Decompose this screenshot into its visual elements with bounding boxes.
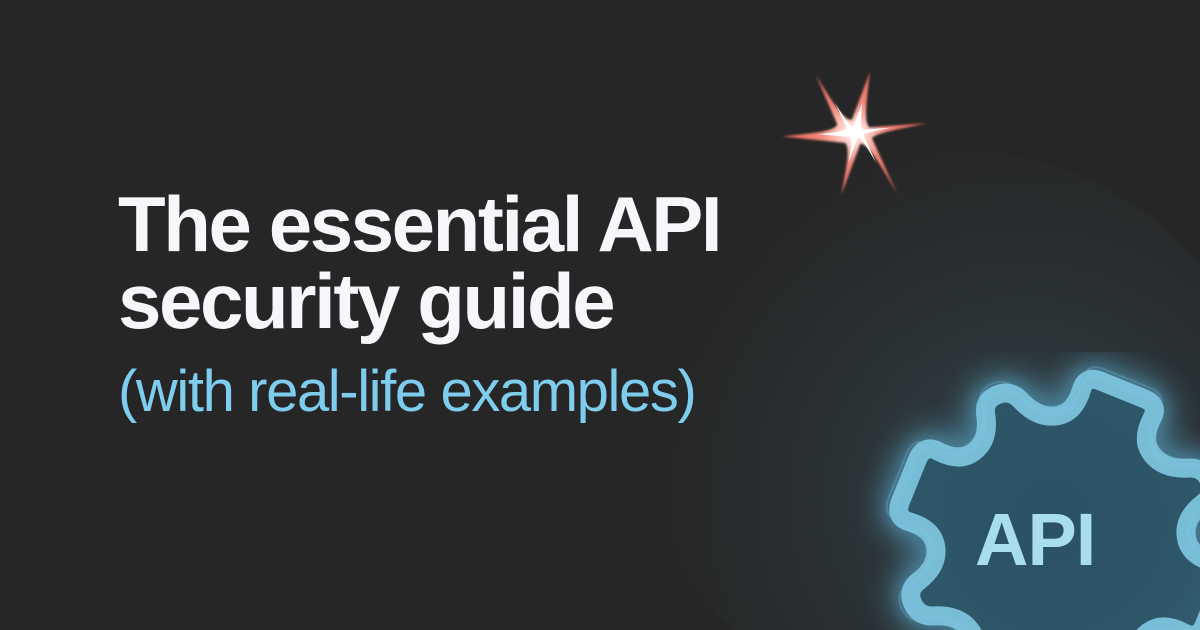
page-title: The essential API security guide [118, 186, 878, 340]
text-block: The essential API security guide (with r… [118, 186, 878, 422]
gear-api-label: API [975, 503, 1095, 577]
page-subtitle: (with real-life examples) [118, 362, 878, 421]
sparkle-star-icon [779, 66, 935, 196]
gear-cog-icon [846, 352, 1200, 630]
social-card: API The essential API security guide (wi… [0, 0, 1200, 630]
